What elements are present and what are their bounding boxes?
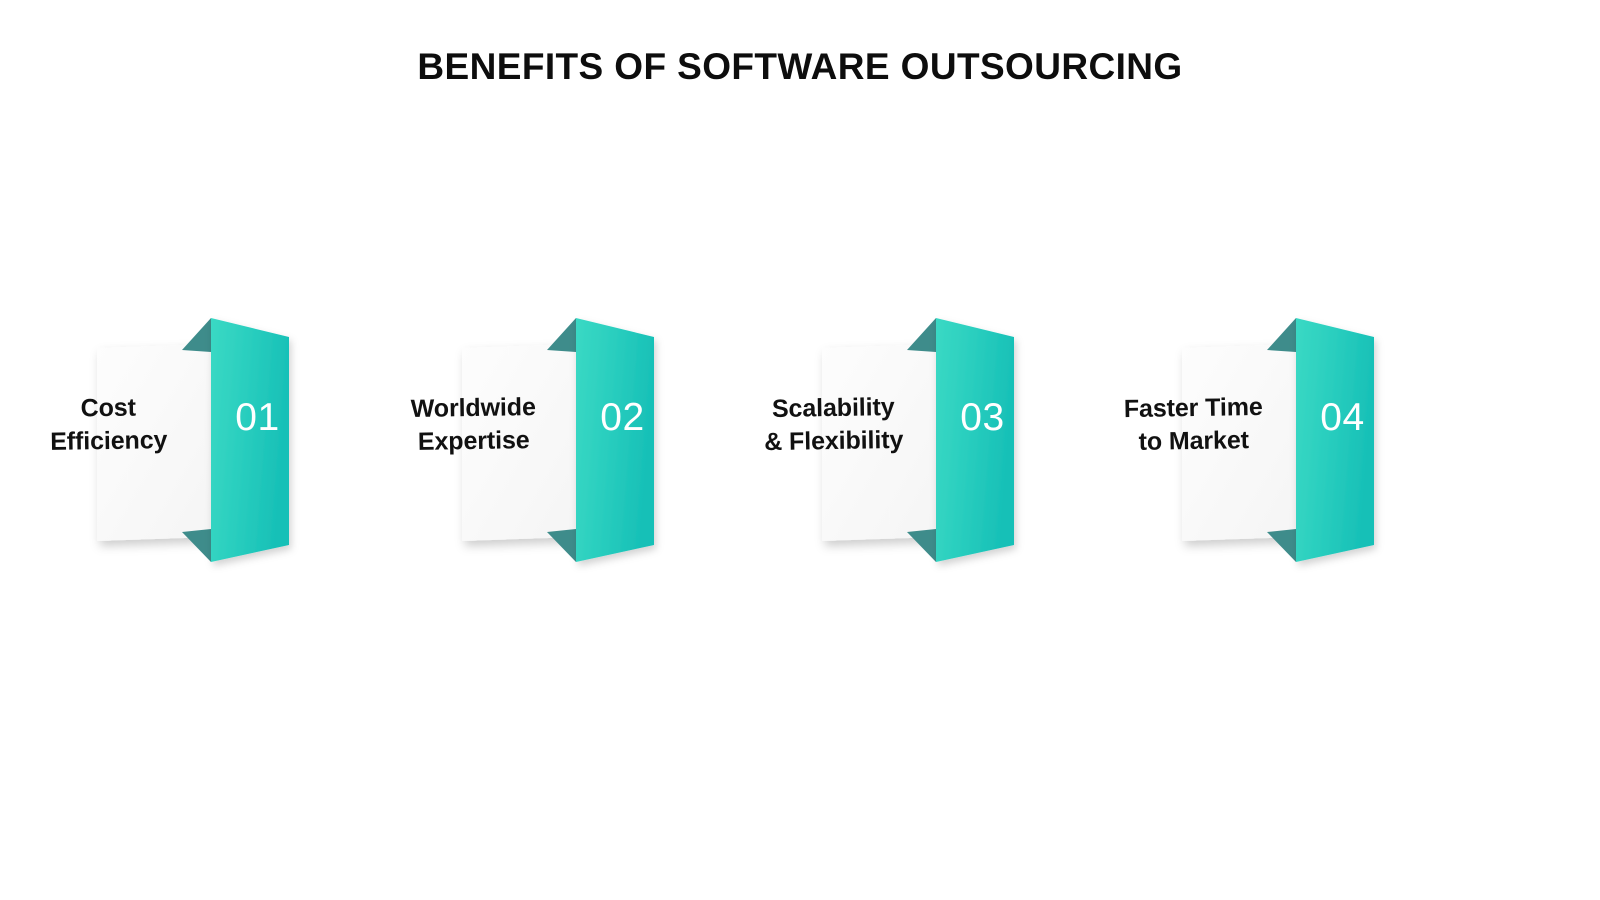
card-label-line1: Scalability	[731, 390, 936, 426]
card-number-3: 03	[930, 398, 1035, 437]
benefit-card-1[interactable]: Cost Efficiency 01	[0, 300, 400, 580]
card-label-line2: Expertise	[371, 423, 576, 459]
card-label-4: Faster Time to Market	[1091, 390, 1297, 458]
benefit-card-4[interactable]: Faster Time to Market 04	[1085, 300, 1485, 580]
ribbon-band-4	[1296, 318, 1374, 562]
card-label-line1: Cost	[6, 390, 211, 426]
card-label-1: Cost Efficiency	[6, 390, 212, 458]
ribbon-fold-bottom-3	[907, 529, 936, 562]
benefit-card-2[interactable]: Worldwide Expertise 02	[365, 300, 765, 580]
ribbon-fold-bottom-4	[1267, 529, 1296, 562]
benefit-card-3[interactable]: Scalability & Flexibility 03	[725, 300, 1125, 580]
ribbon-band-2	[576, 318, 654, 562]
benefits-card-row: Cost Efficiency 01	[0, 0, 1600, 900]
card-number-4: 04	[1290, 398, 1395, 437]
card-label-line1: Worldwide	[371, 390, 576, 426]
card-label-line2: & Flexibility	[731, 423, 936, 459]
ribbon-fold-bottom-1	[182, 529, 211, 562]
ribbon-fold-top-3	[907, 318, 936, 352]
ribbon-fold-bottom-2	[547, 529, 576, 562]
card-number-1: 01	[205, 398, 310, 437]
ribbon-band-3	[936, 318, 1014, 562]
ribbon-fold-top-1	[182, 318, 211, 352]
ribbon-band-1	[211, 318, 289, 562]
card-label-line2: Efficiency	[6, 423, 211, 459]
card-label-3: Scalability & Flexibility	[731, 390, 937, 458]
card-label-line1: Faster Time	[1091, 390, 1296, 426]
ribbon-fold-top-4	[1267, 318, 1296, 352]
card-number-2: 02	[570, 398, 675, 437]
card-label-2: Worldwide Expertise	[371, 390, 577, 458]
card-label-line2: to Market	[1091, 423, 1296, 459]
ribbon-fold-top-2	[547, 318, 576, 352]
